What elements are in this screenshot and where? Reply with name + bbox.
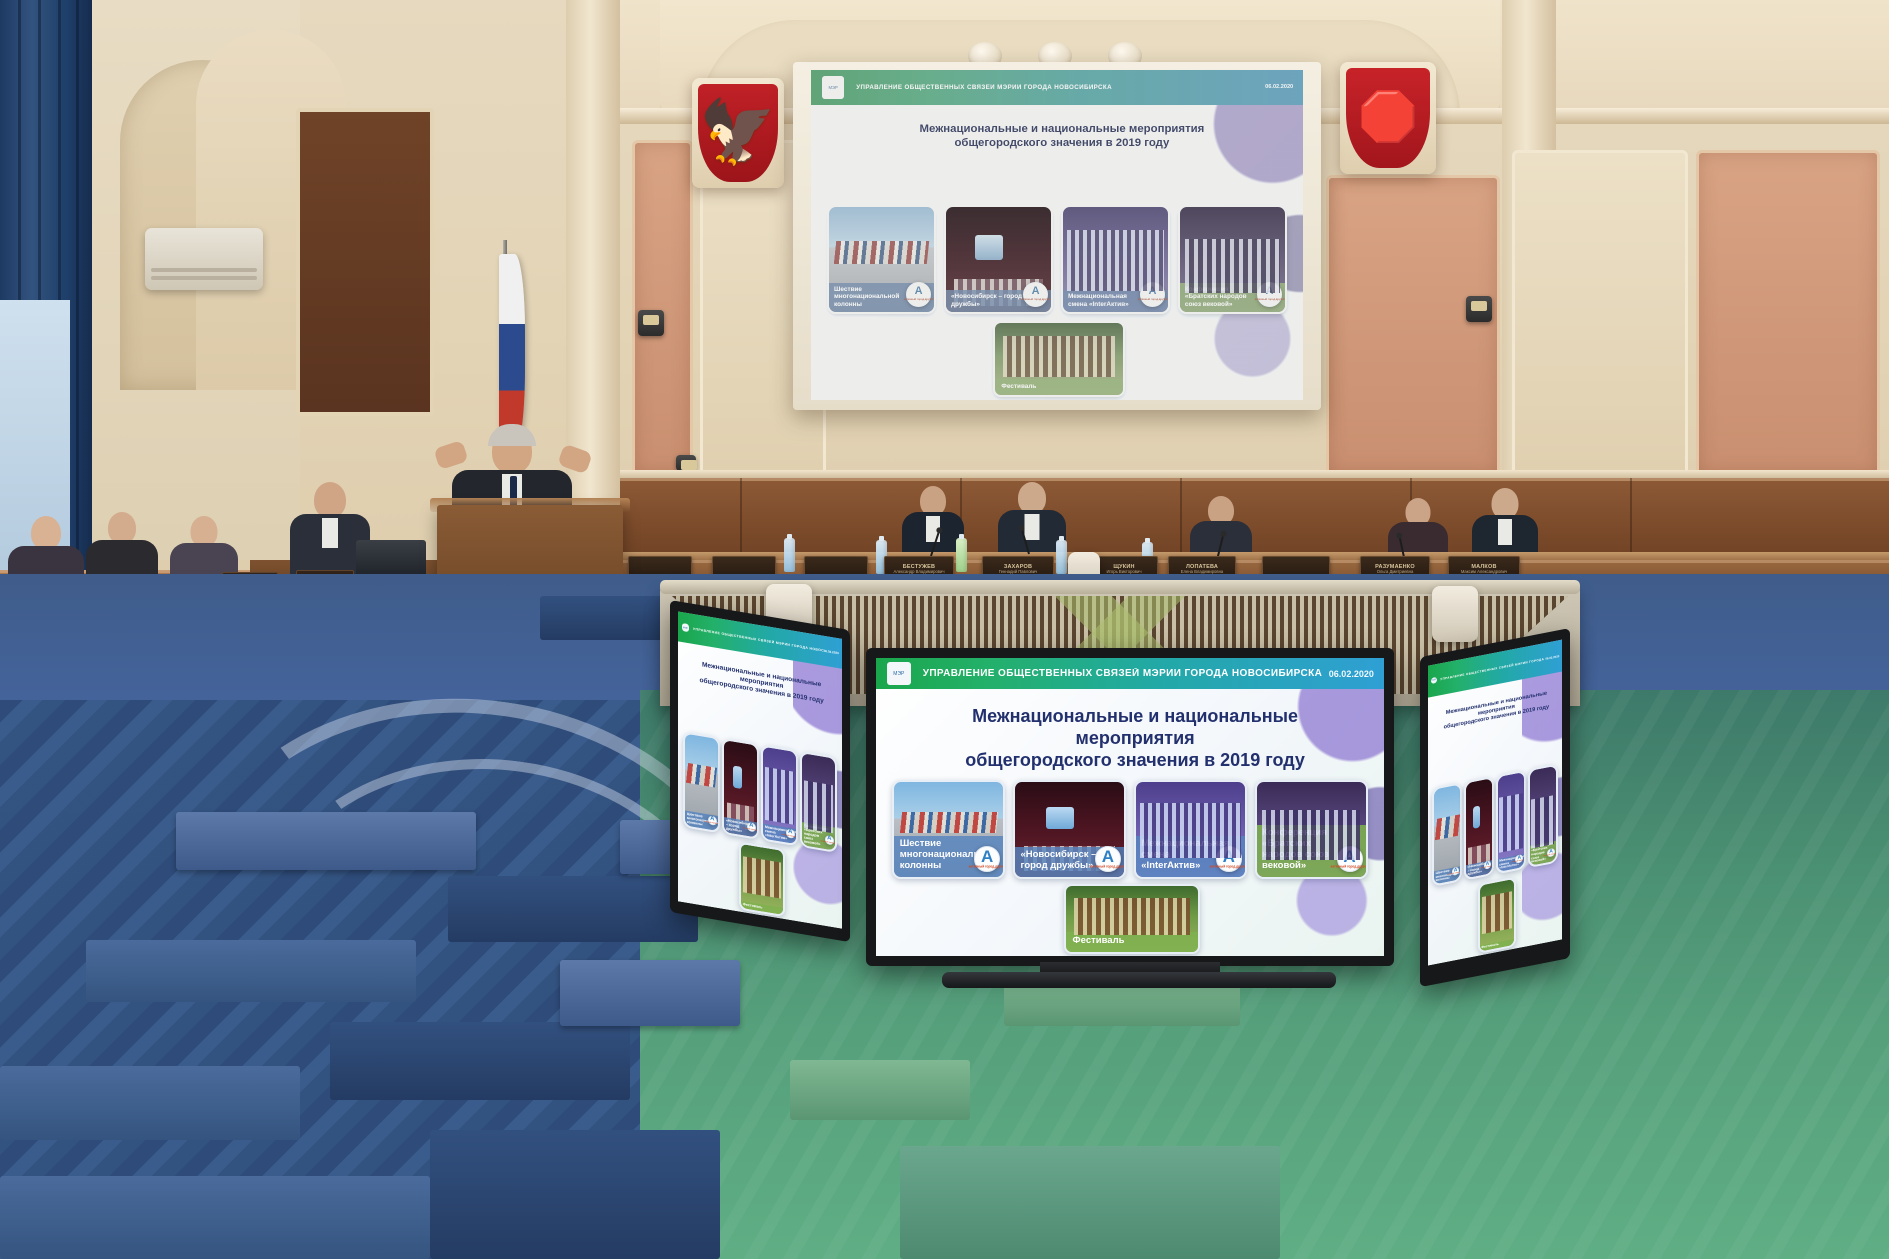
floor-step [790,1060,970,1120]
water-bottle [784,538,795,572]
slide-date: 06.02.2020 [1329,669,1374,679]
wall-projection-screen: МЭР УПРАВЛЕНИЕ ОБЩЕСТВЕННЫХ СВЯЗЕЙ МЭРИИ… [793,62,1321,410]
monitor-center: МЭР УПРАВЛЕНИЕ ОБЩЕСТВЕННЫХ СВЯЗЕЙ МЭРИИ… [866,648,1394,966]
slide-photo: Конференция «Братских народов союз веков… [1255,780,1368,878]
photo-caption: Фестиваль [741,901,784,915]
speaker-hand-left [433,440,468,470]
slide-photo: Межнациональная смена «InterАктив» А акт… [761,744,798,846]
slide-header-title: УПРАВЛЕНИЕ ОБЩЕСТВЕННЫХ СВЯЗЕЙ МЭРИИ ГОР… [856,84,1265,91]
monitor-right: МЭР УПРАВЛЕНИЕ ОБЩЕСТВЕННЫХ СВЯЗЕЙ МЭРИИ… [1420,628,1570,987]
speaker-hair [488,424,536,446]
slide-photo-bottom: Фестиваль [1064,884,1200,954]
wall-door-panel [296,108,434,416]
floor-step [448,876,698,942]
active-city-badge: А активный город.друзей [1023,282,1048,307]
water-bottle [1056,540,1067,574]
air-conditioner [145,228,263,290]
slide-header-title: УПРАВЛЕНИЕ ОБЩЕСТВЕННЫХ СВЯЗЕЙ МЭРИИ ГОР… [923,668,1329,679]
wall-panel [1696,150,1880,476]
console-speaker [1432,586,1478,642]
floor-step [86,940,416,1002]
floor-step [176,812,476,870]
russia-coat-of-arms: 🦅 [692,78,784,188]
photo-caption: Фестиваль [995,379,1123,395]
slide-left: МЭР УПРАВЛЕНИЕ ОБЩЕСТВЕННЫХ СВЯЗЕЙ МЭРИИ… [678,611,842,928]
wall-outlet [676,455,696,471]
floor-step [540,596,670,640]
slide-date: 06.02.2020 [1265,84,1293,90]
monitor-left: МЭР УПРАВЛЕНИЕ ОБЩЕСТВЕННЫХ СВЯЗЕЙ МЭРИИ… [670,600,850,942]
slide-projected: МЭР УПРАВЛЕНИЕ ОБЩЕСТВЕННЫХ СВЯЗЕЙ МЭРИИ… [811,70,1303,400]
slide-photo: Шествие многонациональной колонны А акти… [892,780,1005,878]
active-city-badge: А активный город.друзей [1140,282,1165,307]
slide-photo: «Новосибирск – город дружбы» А активный … [1464,776,1494,881]
double-headed-eagle-icon: 🦅 [699,102,776,164]
mayor-office-logo: МЭР [887,662,910,685]
slide-right: МЭР УПРАВЛЕНИЕ ОБЩЕСТВЕННЫХ СВЯЗЕЙ МЭРИИ… [1428,640,1562,966]
slide-photo-row: Шествие многонациональной колонны А акти… [892,780,1368,878]
floor-step [900,1146,1280,1259]
active-city-badge: А активный город.друзей [906,282,931,307]
wall-panel [1326,175,1500,476]
active-city-badge: А активный город.друзей [1257,282,1282,307]
floor-step [0,1066,300,1140]
speaker-hand-right [557,444,593,475]
slide-photo: Конференция «Братских народов союз веков… [800,751,837,853]
novosibirsk-emblem-icon: 🛑 [1358,94,1418,142]
wall-sconce [1466,296,1492,322]
slide-photo: Конференция «Братских народов союз веков… [1528,763,1558,868]
floor-step [0,1176,430,1259]
mayor-office-logo: МЭР [682,623,690,632]
slide-center: МЭР УПРАВЛЕНИЕ ОБЩЕСТВЕННЫХ СВЯЗЕЙ МЭРИИ… [876,658,1384,956]
slide-photo: Шествие многонациональной колонны А акти… [827,205,937,314]
slide-title: Межнациональные и национальные мероприят… [691,660,832,708]
wall-panel [1512,150,1688,476]
slide-date: 06.02.2020 [1545,654,1559,661]
slide-photo: Шествие многонациональной колонны А акти… [1432,782,1462,887]
slide-title: Межнациональные и национальные мероприят… [917,706,1354,772]
monitor-right-display: МЭР УПРАВЛЕНИЕ ОБЩЕСТВЕННЫХ СВЯЗЕЙ МЭРИИ… [1428,640,1562,966]
mayor-office-logo: МЭР [1431,677,1437,684]
slide-photo: Межнациональная смена «InterАктив» А акт… [1061,205,1171,314]
photo-caption: Фестиваль [1066,932,1198,952]
monitor-center-base [942,972,1336,988]
slide-photo-bottom: Фестиваль [993,321,1125,398]
slide-title: Межнациональные и национальные мероприят… [850,123,1273,151]
slide-photo: Межнациональная смена «InterАктив» А акт… [1496,770,1526,875]
slide-photo: «Новосибирск – город дружбы» А активный … [944,205,1054,314]
slide-photo-bottom: Фестиваль [1478,876,1517,954]
slide-photo-row: Шествие многонациональной колонны А акти… [1432,763,1557,886]
floor-step [330,1022,630,1100]
slide-header-title: УПРАВЛЕНИЕ ОБЩЕСТВЕННЫХ СВЯЗЕЙ МЭРИИ ГОР… [693,627,824,653]
slide-header: МЭР УПРАВЛЕНИЕ ОБЩЕСТВЕННЫХ СВЯЗЕЙ МЭРИИ… [811,70,1303,105]
photo-caption: Фестиваль [1480,939,1515,952]
wall-sconce [638,310,664,336]
slide-date: 06.02.2020 [824,649,839,656]
monitor-center-display: МЭР УПРАВЛЕНИЕ ОБЩЕСТВЕННЫХ СВЯЗЕЙ МЭРИИ… [876,658,1384,956]
slide-photo: Конференция «Братских народов союз веков… [1178,205,1288,314]
wall-panel [632,140,693,476]
water-bottle [956,538,967,572]
slide-header: МЭР УПРАВЛЕНИЕ ОБЩЕСТВЕННЫХ СВЯЗЕЙ МЭРИИ… [876,658,1384,689]
novosibirsk-coat-of-arms: 🛑 [1340,62,1436,174]
slide-photo-row: Шествие многонациональной колонны А акти… [683,731,837,852]
flag-cloth [499,254,525,449]
slide-photo-bottom: Фестиваль [739,842,786,918]
active-city-badge: А активный город.друзей [1337,846,1363,872]
conference-hall-photo: 🦅 🛑 МЭР УПРАВЛЕНИЕ ОБЩЕСТВЕННЫХ СВЯЗЕЙ М… [0,0,1889,1259]
active-city-badge: А активный город.друзей [1216,846,1242,872]
floor-step [430,1130,720,1259]
slide-photo: Межнациональная смена «InterАктив» А акт… [1134,780,1247,878]
slide-title: Межнациональные и национальные мероприят… [1439,689,1554,732]
floor-step [560,960,740,1026]
active-city-badge: А активный город.друзей [974,846,1000,872]
projection-image: МЭР УПРАВЛЕНИЕ ОБЩЕСТВЕННЫХ СВЯЗЕЙ МЭРИИ… [811,70,1303,400]
active-city-badge: А активный город.друзей [1095,846,1121,872]
slide-photo-row: Шествие многонациональной колонны А акти… [827,205,1288,314]
mayor-office-logo: МЭР [822,76,845,99]
slide-photo: Шествие многонациональной колонны А акти… [683,731,720,833]
slide-header-title: УПРАВЛЕНИЕ ОБЩЕСТВЕННЫХ СВЯЗЕЙ МЭРИИ ГОР… [1440,657,1545,681]
slide-photo: «Новосибирск – город дружбы» А активный … [722,738,759,840]
slide-photo: «Новосибирск – город дружбы» А активный … [1013,780,1126,878]
monitor-left-display: МЭР УПРАВЛЕНИЕ ОБЩЕСТВЕННЫХ СВЯЗЕЙ МЭРИИ… [678,611,842,928]
